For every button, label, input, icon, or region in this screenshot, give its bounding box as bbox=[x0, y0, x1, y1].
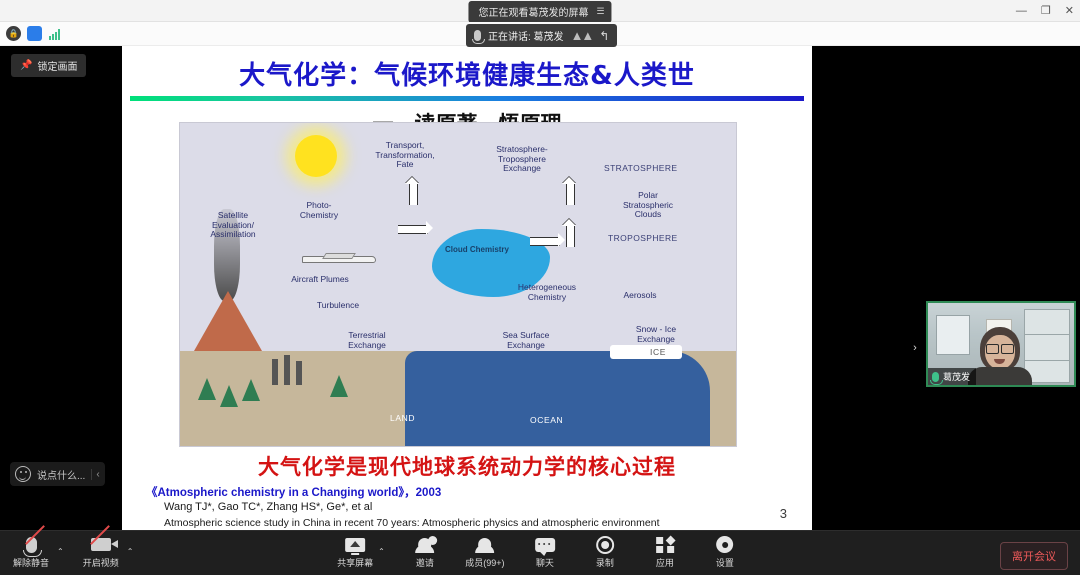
active-speaker-indicator: 正在讲话: 葛茂发 ▲▲ ↰ bbox=[466, 24, 617, 47]
figure-label-sea-surface-exchange: Sea Surface Exchange bbox=[488, 331, 564, 350]
smokestack-2 bbox=[284, 355, 290, 385]
lock-screen-label: 锁定画面 bbox=[37, 58, 77, 73]
slide-reference: 《Atmospheric chemistry in a Changing wor… bbox=[146, 484, 441, 500]
smiley-icon[interactable] bbox=[15, 466, 31, 482]
smokestack-1 bbox=[272, 359, 278, 385]
share-screen-icon bbox=[345, 535, 365, 554]
settings-label: 设置 bbox=[716, 556, 734, 569]
status-icon-group: 🔒 bbox=[6, 26, 63, 41]
figure-label-photochemistry: Photo- Chemistry bbox=[288, 201, 350, 220]
figure-caption-troposphere: TROPOSPHERE bbox=[608, 233, 678, 243]
horizontal-arrow-2 bbox=[525, 233, 565, 247]
lock-screen-button[interactable]: 📌 锁定画面 bbox=[11, 54, 86, 77]
meeting-stage: 📌 锁定画面 说点什么... ‹ 大气化学：气候环境健康生态&人类世 一、读原著… bbox=[0, 46, 1080, 530]
active-speaker-label: 正在讲话: 葛茂发 bbox=[488, 28, 564, 43]
maximize-button[interactable]: ❐ bbox=[1041, 6, 1051, 17]
apps-icon bbox=[656, 535, 674, 554]
return-arrow-icon[interactable]: ↰ bbox=[599, 29, 609, 43]
slide-red-caption: 大气化学是现代地球系统动力学的核心过程 bbox=[122, 451, 812, 481]
ocean-body bbox=[405, 351, 710, 447]
window-title-bar: 您正在观看葛茂发的屏幕 ☰ — ❐ ✕ bbox=[0, 0, 1080, 22]
share-options-chevron-icon[interactable]: ⌃ bbox=[378, 547, 385, 556]
video-person-body bbox=[968, 367, 1032, 387]
participant-video-tile[interactable]: 葛茂发 bbox=[926, 301, 1076, 387]
figure-label-turbulence: Turbulence bbox=[305, 301, 371, 311]
share-screen-group: 共享屏幕 ⌃ bbox=[335, 535, 385, 569]
figure-label-aircraft-plumes: Aircraft Plumes bbox=[280, 275, 360, 285]
minimize-button[interactable]: — bbox=[1016, 6, 1027, 17]
record-button[interactable]: 录制 bbox=[585, 535, 625, 569]
sun-icon bbox=[295, 135, 337, 177]
atmospheric-chemistry-figure: Cloud Chemistry Satelli bbox=[179, 122, 737, 447]
figure-caption-ice: ICE bbox=[650, 347, 666, 357]
participants-icon bbox=[478, 535, 491, 554]
figure-label-satellite: Satellite Evaluation/ Assimilation bbox=[200, 211, 266, 240]
chat-button[interactable]: 聊天 bbox=[525, 535, 565, 569]
figure-caption-land: LAND bbox=[390, 413, 415, 423]
mic-icon bbox=[474, 30, 481, 41]
participant-name-badge: 葛茂发 bbox=[928, 368, 976, 385]
mute-control-group: 解除静音 ⌃ bbox=[8, 535, 64, 569]
smokestack-3 bbox=[296, 361, 302, 385]
tree-2 bbox=[220, 385, 238, 407]
camera-off-icon bbox=[91, 535, 111, 554]
share-screen-button[interactable]: 共享屏幕 bbox=[335, 535, 375, 569]
apps-label: 应用 bbox=[656, 556, 674, 569]
audio-options-chevron-icon[interactable]: ⌃ bbox=[57, 547, 64, 556]
chat-collapse-button[interactable]: ‹ bbox=[91, 469, 99, 480]
record-label: 录制 bbox=[596, 556, 614, 569]
participants-label: 成员(99+) bbox=[465, 556, 504, 569]
mic-on-icon bbox=[932, 372, 939, 382]
glasses-icon bbox=[986, 344, 1014, 352]
lock-icon[interactable]: 🔒 bbox=[6, 26, 21, 41]
close-button[interactable]: ✕ bbox=[1065, 6, 1074, 17]
volcano-shape bbox=[194, 291, 262, 351]
menu-icon[interactable]: ☰ bbox=[596, 6, 603, 17]
video-room-shelf bbox=[1024, 309, 1070, 383]
vertical-arrow-2 bbox=[562, 177, 577, 211]
ice-sheet bbox=[610, 345, 682, 359]
tree-4 bbox=[330, 375, 348, 397]
figure-label-transport: Transport, Transformation, Fate bbox=[365, 141, 445, 170]
start-video-button[interactable]: 开启视频 bbox=[78, 535, 124, 569]
toolbar-left-group: 解除静音 ⌃ 开启视频 ⌃ bbox=[8, 535, 133, 569]
video-control-group: 开启视频 ⌃ bbox=[78, 535, 134, 569]
invite-button[interactable]: 邀请 bbox=[405, 535, 445, 569]
screen-share-notice-label: 您正在观看葛茂发的屏幕 bbox=[478, 4, 588, 19]
unmute-label: 解除静音 bbox=[13, 556, 49, 569]
settings-icon bbox=[716, 535, 733, 554]
vertical-arrow-1 bbox=[405, 177, 420, 211]
mic-muted-icon bbox=[26, 535, 37, 554]
meeting-toolbar: 解除静音 ⌃ 开启视频 ⌃ 共享屏幕 bbox=[0, 530, 1080, 575]
audio-wave-icon: ▲▲ bbox=[571, 28, 593, 43]
apps-button[interactable]: 应用 bbox=[645, 535, 685, 569]
tree-1 bbox=[198, 378, 216, 400]
figure-label-polar-stratospheric-clouds: Polar Stratospheric Clouds bbox=[612, 191, 684, 220]
figure-label-cloud: Cloud Chemistry bbox=[442, 245, 512, 254]
figure-label-heterogeneous-chemistry: Heterogeneous Chemistry bbox=[504, 283, 590, 302]
share-screen-label: 共享屏幕 bbox=[337, 556, 373, 569]
slide-title: 大气化学：气候环境健康生态&人类世 bbox=[122, 55, 812, 92]
meeting-window: 您正在观看葛茂发的屏幕 ☰ — ❐ ✕ 🔒 01:55:51 演讲者视图 ▾ bbox=[0, 0, 1080, 575]
quick-chat-entry[interactable]: 说点什么... ‹ bbox=[10, 462, 105, 486]
screen-share-notice: 您正在观看葛茂发的屏幕 ☰ bbox=[468, 1, 611, 23]
slide-paper-title: Atmospheric science study in China in re… bbox=[164, 517, 660, 529]
figure-caption-stratosphere: STRATOSPHERE bbox=[604, 163, 677, 173]
video-options-chevron-icon[interactable]: ⌃ bbox=[127, 547, 134, 556]
shield-icon[interactable] bbox=[27, 26, 42, 41]
leave-meeting-button[interactable]: 离开会议 bbox=[1000, 542, 1068, 570]
tree-3 bbox=[242, 379, 260, 401]
figure-label-terrestrial-exchange: Terrestrial Exchange bbox=[330, 331, 404, 350]
chat-label: 聊天 bbox=[536, 556, 554, 569]
invite-icon bbox=[418, 535, 431, 554]
pin-icon: 📌 bbox=[20, 60, 32, 71]
chat-input-placeholder[interactable]: 说点什么... bbox=[37, 467, 85, 482]
figure-label-strat-trop-exchange: Stratosphere- Troposphere Exchange bbox=[480, 145, 564, 174]
figure-label-aerosols: Aerosols bbox=[610, 291, 670, 301]
slide-authors: Wang TJ*, Gao TC*, Zhang HS*, Ge*, et al bbox=[164, 501, 372, 513]
toolbar-center-group: 共享屏幕 ⌃ 邀请 成员(99+) 聊天 录制 bbox=[335, 535, 745, 569]
settings-button[interactable]: 设置 bbox=[705, 535, 745, 569]
figure-caption-ocean: OCEAN bbox=[530, 415, 563, 425]
signal-icon[interactable] bbox=[48, 28, 63, 40]
participant-name-label: 葛茂发 bbox=[943, 370, 970, 383]
chat-icon bbox=[535, 535, 555, 554]
shared-slide: 大气化学：气候环境健康生态&人类世 一、读原著、悟原理 Cloud Chemis… bbox=[122, 46, 812, 530]
slide-page-number: 3 bbox=[780, 506, 787, 521]
video-room-window bbox=[936, 315, 970, 355]
horizontal-arrow-1 bbox=[393, 221, 433, 235]
start-video-label: 开启视频 bbox=[83, 556, 119, 569]
airplane-icon bbox=[302, 251, 376, 267]
unmute-button[interactable]: 解除静音 bbox=[8, 535, 54, 569]
participants-button[interactable]: 成员(99+) bbox=[465, 535, 505, 569]
title-divider bbox=[130, 96, 804, 101]
record-icon bbox=[596, 535, 614, 554]
video-panel-collapse-button[interactable]: › bbox=[908, 335, 922, 361]
invite-label: 邀请 bbox=[416, 556, 434, 569]
window-controls: — ❐ ✕ bbox=[1016, 0, 1074, 22]
figure-label-snow-ice-exchange: Snow - Ice Exchange bbox=[620, 325, 692, 344]
